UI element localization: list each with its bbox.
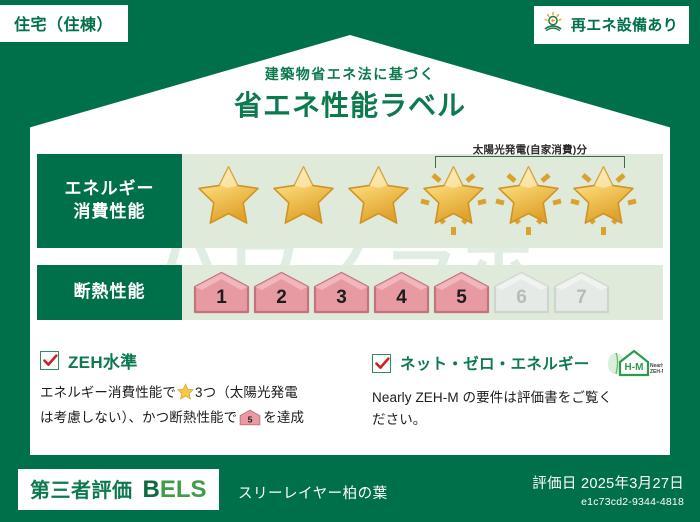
star-base (342, 161, 415, 241)
organization-name: スリーレイヤー柏の葉 (238, 482, 388, 503)
insulation-grade-value: 3 (313, 287, 370, 309)
insulation-grade-7: 7 (553, 271, 610, 314)
net-zero-text-line2: ださい。 (372, 412, 426, 427)
solar-bracket (435, 156, 625, 168)
building-type-tag: 住宅（住棟） (0, 5, 128, 42)
zeh-criteria-header: ZEH水準 (40, 348, 340, 373)
zeh-text-part4: を達成 (263, 410, 304, 425)
energy-label-line1: エネルギー (65, 178, 155, 201)
energy-rating-body: 太陽光発電(自家消費)分 (182, 154, 663, 248)
solar-contribution-note: 太陽光発電(自家消費)分 (435, 142, 625, 157)
energy-performance-label-box: エネルギー 消費性能 (37, 154, 182, 248)
star-solar (417, 161, 490, 241)
zeh-text-part2: 3つ（太陽光発電 (195, 385, 298, 400)
evaluation-date: 評価日 2025年3月27日 (532, 472, 684, 493)
label-title: 省エネ性能ラベル (0, 84, 700, 124)
bels-certification-plate: 第三者評価 BELS (18, 469, 219, 510)
evaluation-meta: 評価日 2025年3月27日 e1c73cd2-9344-4818 (532, 472, 684, 508)
zeh-criteria-title: ZEH水準 (68, 348, 138, 373)
insulation-grade-value: 6 (493, 287, 550, 309)
net-zero-text-line1: Nearly ZEH-M の要件は評価書をご覧く (372, 390, 612, 405)
bels-logo: BELS (143, 476, 207, 504)
insulation-grade-value: 1 (193, 287, 250, 309)
insulation-grade-value: 7 (553, 287, 610, 309)
bels-logo-els: ELS (160, 476, 207, 503)
energy-performance-row: エネルギー 消費性能 太陽光発電(自家消費)分 (37, 154, 663, 248)
certificate-id: e1c73cd2-9344-4818 (532, 496, 684, 508)
insulation-grade-2: 2 (253, 271, 310, 314)
net-zero-criteria-column: ネット・ゼロ・エネルギー H-M Nearly ZEH-M Nearly ZEH… (350, 348, 660, 433)
insulation-grade-value: 5 (433, 287, 490, 309)
svg-text:H-M: H-M (624, 362, 643, 373)
insulation-grade-value: 4 (373, 287, 430, 309)
net-zero-checkbox[interactable] (372, 354, 391, 373)
insulation-grade-1: 1 (193, 271, 250, 314)
criteria-section: ZEH水準 エネルギー消費性能で3つ（太陽光発電は考慮しない）、かつ断熱性能で5… (40, 348, 660, 433)
bels-logo-b: B (143, 476, 160, 503)
check-icon (43, 354, 58, 368)
zeh-text-part1: エネルギー消費性能で (40, 385, 176, 400)
insulation-performance-label-box: 断熱性能 (37, 265, 182, 320)
star-base (192, 161, 265, 241)
insulation-grade-3: 3 (313, 271, 370, 314)
inline-star-icon (177, 383, 194, 407)
energy-performance-label: ハウスラボ 住宅（住棟） 再エネ設備あり 建築物省エネ法に基づく 省エネ性能ラ (0, 0, 700, 522)
zeh-criteria-text: エネルギー消費性能で3つ（太陽光発電は考慮しない）、かつ断熱性能で5を達成 (40, 382, 340, 433)
net-zero-criteria-text: Nearly ZEH-M の要件は評価書をご覧ください。 (372, 387, 650, 431)
insulation-performance-row: 断熱性能 1234567 (37, 265, 663, 320)
energy-label-line2: 消費性能 (74, 201, 146, 224)
svg-text:5: 5 (248, 414, 253, 424)
label-subtitle: 建築物省エネ法に基づく (0, 64, 700, 84)
insulation-grade-5: 5 (433, 271, 490, 314)
inline-grade-badge: 5 (239, 409, 261, 433)
evaluation-date-label: 評価日 (532, 476, 576, 492)
zeh-criteria-column: ZEH水準 エネルギー消費性能で3つ（太陽光発電は考慮しない）、かつ断熱性能で5… (40, 348, 350, 433)
star-solar (492, 161, 565, 241)
star-base (267, 161, 340, 241)
check-icon (375, 357, 390, 371)
nearly-zeh-m-logo: H-M Nearly ZEH-M (605, 348, 663, 378)
third-party-eval-label: 第三者評価 (30, 474, 133, 503)
renewable-equipment-badge: 再エネ設備あり (534, 6, 689, 44)
zeh-text-part3: は考慮しない）、かつ断熱性能で (40, 410, 237, 425)
star-rating-group (182, 161, 640, 241)
net-zero-criteria-title: ネット・ゼロ・エネルギー (400, 352, 590, 374)
renewable-badge-label: 再エネ設備あり (571, 14, 678, 35)
insulation-rating-body: 1234567 (182, 265, 663, 320)
evaluation-date-value: 2025年3月27日 (581, 476, 684, 492)
insulation-grade-group: 1234567 (182, 271, 610, 314)
insulation-grade-6: 6 (493, 271, 550, 314)
insulation-grade-value: 2 (253, 287, 310, 309)
insulation-grade-4: 4 (373, 271, 430, 314)
insulation-label: 断熱性能 (74, 281, 146, 304)
svg-text:ZEH-M: ZEH-M (650, 369, 663, 375)
zeh-checkbox[interactable] (40, 351, 59, 370)
solar-sun-icon (542, 11, 564, 38)
star-solar (567, 161, 640, 241)
net-zero-criteria-header: ネット・ゼロ・エネルギー H-M Nearly ZEH-M (372, 348, 650, 378)
